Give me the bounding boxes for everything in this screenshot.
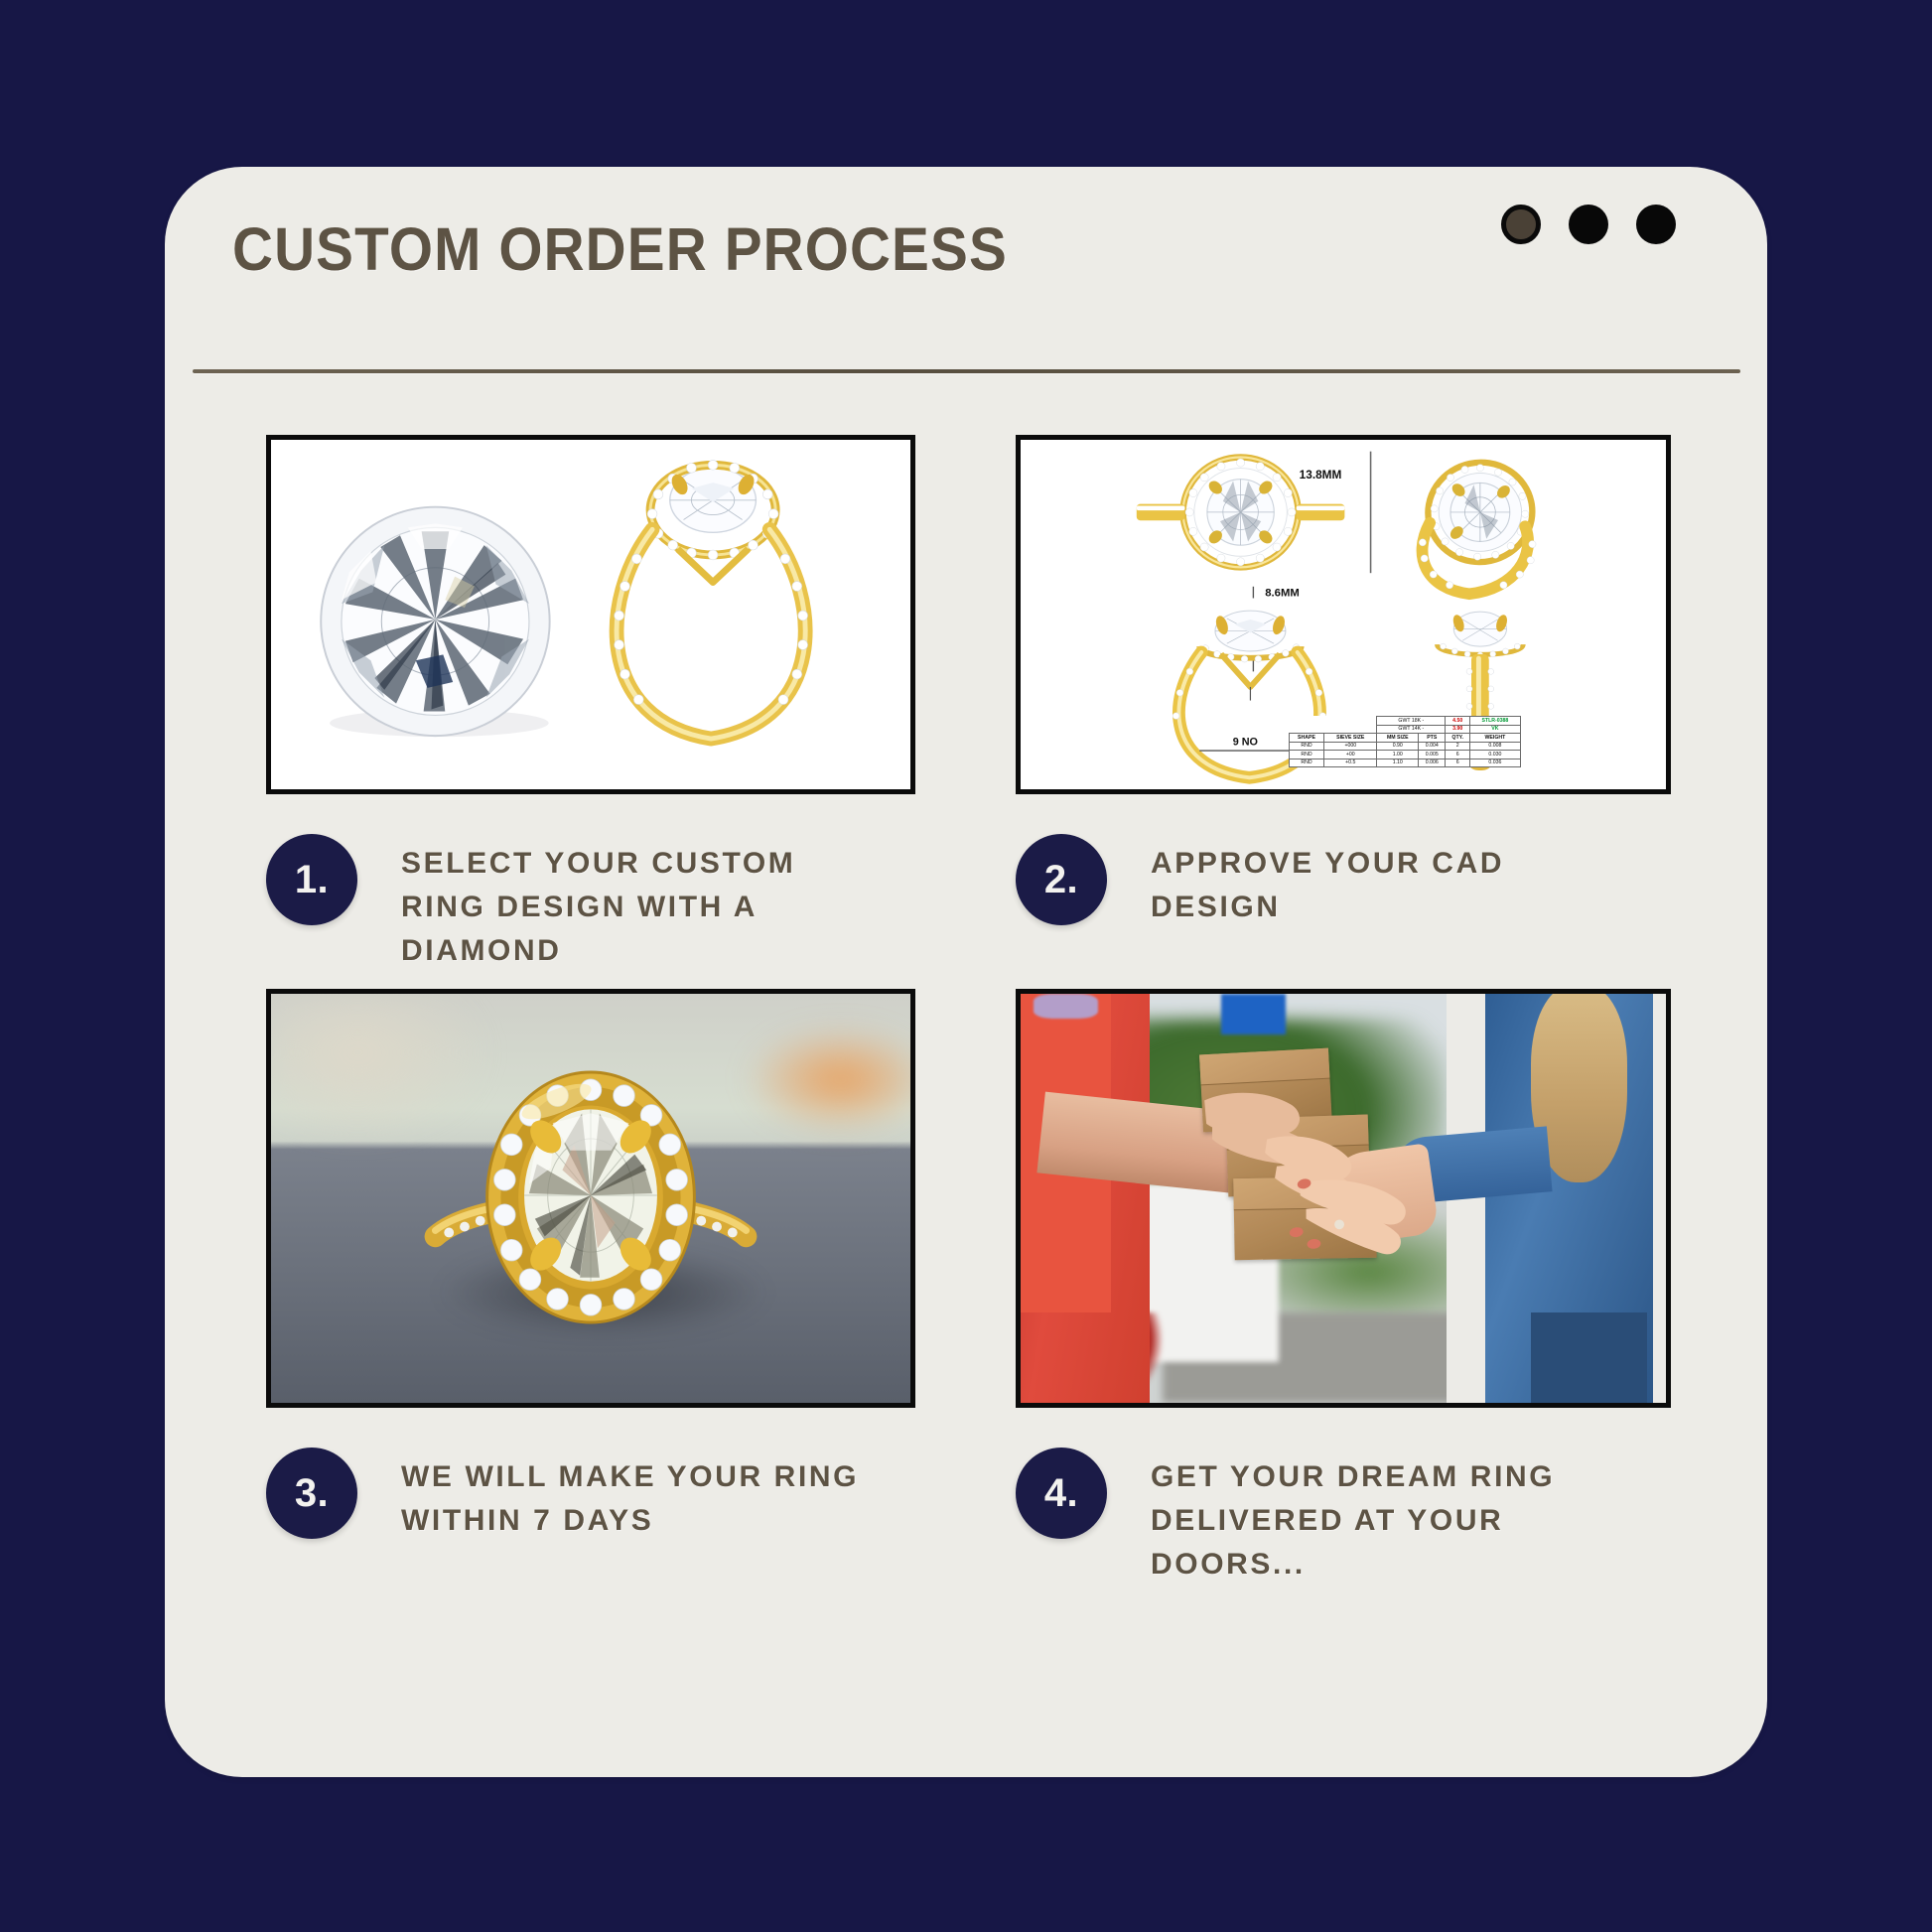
cad-col-mm: MM SIZE <box>1377 734 1419 743</box>
dimension-text-9-no: 9 NO <box>1233 736 1258 748</box>
cad-gwt18k-value: 4.50 <box>1446 717 1470 726</box>
main-card: CUSTOM ORDER PROCESS <box>165 167 1767 1777</box>
cad-col-weight: WEIGHT <box>1470 734 1521 743</box>
cad-gwt18k-label: GWT 18K - <box>1377 717 1446 726</box>
cad-col-qty: QTY. <box>1446 734 1470 743</box>
cad-table-row-gwt14k: GWT 14K - 3.90 VK <box>1289 725 1520 734</box>
finished-ring-illustration <box>271 994 910 1403</box>
cad-col-sieve: SIEVE SIZE <box>1324 734 1377 743</box>
cad-style-code: STLR-0388 <box>1470 717 1521 726</box>
cad-table-row: RND +00 1.00 0.005 6 0.030 <box>1289 751 1520 759</box>
window-dot-2-icon[interactable] <box>1569 205 1608 244</box>
step-1-label: SELECT YOUR CUSTOM RING DESIGN WITH A DI… <box>401 842 828 973</box>
step-3-caption: 3. WE WILL MAKE YOUR RING WITHIN 7 DAYS <box>266 1448 921 1543</box>
poster-canvas: CUSTOM ORDER PROCESS <box>0 0 1932 1932</box>
step-4-image[interactable] <box>1016 989 1671 1408</box>
cad-gwt14k-value: 3.90 <box>1446 725 1470 734</box>
dimension-text-8-6mm: 8.6MM <box>1265 588 1300 600</box>
photo-hands-overlay <box>1021 994 1666 1403</box>
customer-ring <box>1334 1219 1344 1229</box>
step-4-badge: 4. <box>1016 1448 1107 1539</box>
cad-table-row: RND +000 0.90 0.004 2 0.008 <box>1289 742 1520 751</box>
step-2-image[interactable]: 13.8MM 8.6MM <box>1016 435 1671 794</box>
card-header: CUSTOM ORDER PROCESS <box>165 167 1767 369</box>
cad-initials: VK <box>1470 725 1521 734</box>
step-2-caption: 2. APPROVE YOUR CAD DESIGN <box>1016 834 1651 929</box>
step-2-label: APPROVE YOUR CAD DESIGN <box>1151 842 1578 929</box>
page-title: CUSTOM ORDER PROCESS <box>232 214 1008 284</box>
step-4-photo <box>1021 994 1666 1403</box>
cad-spec-table: GWT 18K - 4.50 STLR-0388 GWT 14K - 3.90 … <box>1289 716 1521 767</box>
step-2-illustration: 13.8MM 8.6MM <box>1021 440 1666 789</box>
step-4-label: GET YOUR DREAM RING DELIVERED AT YOUR DO… <box>1151 1455 1578 1587</box>
cad-table-header-row: SHAPE SIEVE SIZE MM SIZE PTS QTY. WEIGHT <box>1289 734 1520 743</box>
window-dot-3-icon[interactable] <box>1636 205 1676 244</box>
dimension-text-13-8mm: 13.8MM <box>1300 469 1342 482</box>
step-3-image[interactable] <box>266 989 915 1408</box>
cad-gwt14k-label: GWT 14K - <box>1377 725 1446 734</box>
window-dots <box>1501 205 1676 244</box>
cad-col-pts: PTS <box>1419 734 1446 743</box>
step-1-illustration <box>271 440 910 789</box>
step-4-caption: 4. GET YOUR DREAM RING DELIVERED AT YOUR… <box>1016 1448 1651 1587</box>
step-3-label: WE WILL MAKE YOUR RING WITHIN 7 DAYS <box>401 1455 868 1543</box>
step-3-badge: 3. <box>266 1448 357 1539</box>
step-3-photo <box>271 994 910 1403</box>
window-dot-1-icon[interactable] <box>1501 205 1541 244</box>
cad-col-shape: SHAPE <box>1289 734 1323 743</box>
diamond-and-ring-illustration <box>271 440 910 789</box>
cad-table-row: RND +0.5 1.10 0.006 6 0.036 <box>1289 759 1520 767</box>
header-divider <box>193 369 1740 373</box>
step-1-badge: 1. <box>266 834 357 925</box>
cad-table-row-gwt18k: GWT 18K - 4.50 STLR-0388 <box>1289 717 1520 726</box>
step-1-caption: 1. SELECT YOUR CUSTOM RING DESIGN WITH A… <box>266 834 901 973</box>
step-1-image[interactable] <box>266 435 915 794</box>
step-2-badge: 2. <box>1016 834 1107 925</box>
